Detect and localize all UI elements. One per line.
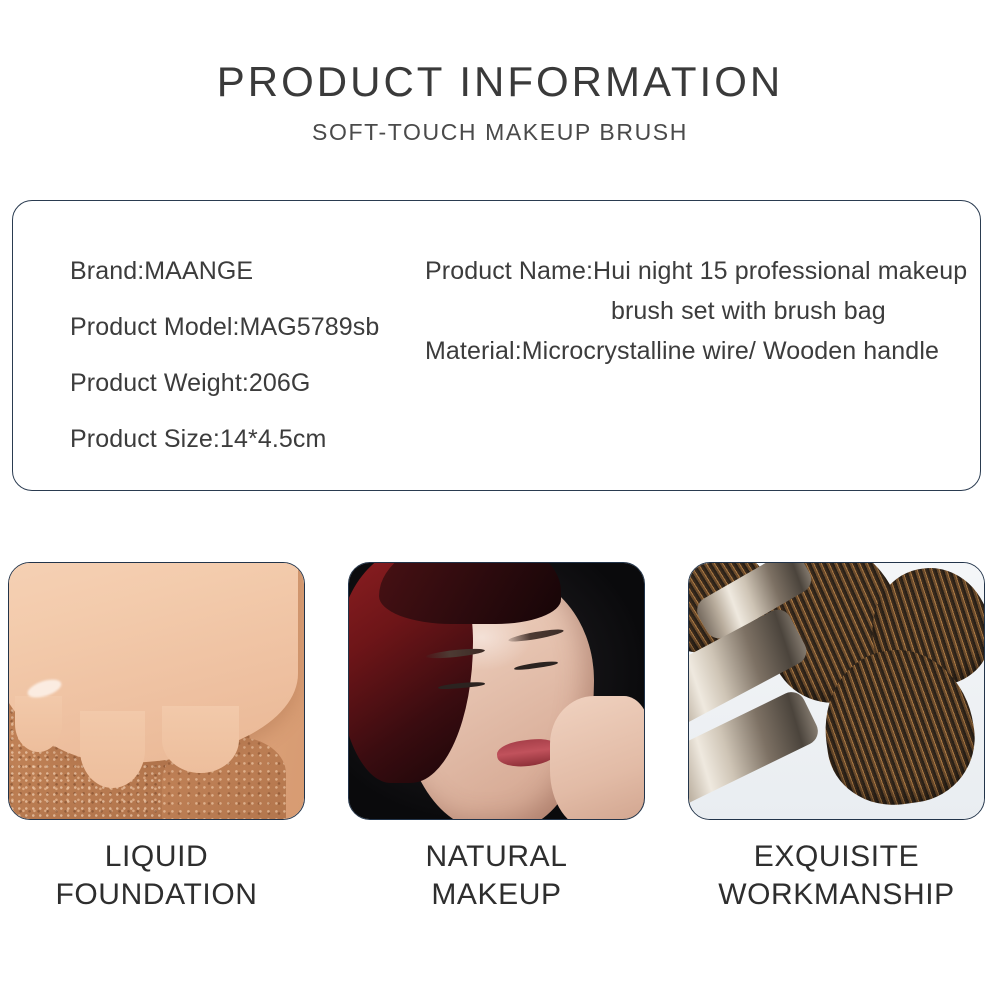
page-header: PRODUCT INFORMATION SOFT-TOUCH MAKEUP BR… bbox=[0, 58, 1000, 145]
model-hand bbox=[550, 696, 645, 820]
spec-brand: Brand:MAANGE bbox=[70, 251, 425, 291]
foundation-drip bbox=[162, 706, 239, 773]
feature-caption-exquisite-workmanship: EXQUISITE WORKMANSHIP bbox=[688, 838, 985, 914]
specification-right-column: Product Name:Hui night 15 professional m… bbox=[425, 251, 970, 371]
page-subtitle: SOFT-TOUCH MAKEUP BRUSH bbox=[0, 119, 1000, 145]
page-title: PRODUCT INFORMATION bbox=[0, 58, 1000, 105]
spec-material: Material:Microcrystalline wire/ Wooden h… bbox=[425, 331, 970, 371]
feature-tile-exquisite-workmanship bbox=[688, 562, 985, 820]
caption-line-1: LIQUID bbox=[8, 838, 305, 876]
feature-tile-liquid-foundation bbox=[8, 562, 305, 820]
specification-box: Brand:MAANGE Product Model:MAG5789sb Pro… bbox=[12, 200, 981, 491]
feature-caption-natural-makeup: NATURAL MAKEUP bbox=[348, 838, 645, 914]
spec-product-model: Product Model:MAG5789sb bbox=[70, 307, 425, 347]
foundation-drip bbox=[80, 711, 145, 788]
caption-line-2: FOUNDATION bbox=[8, 876, 305, 914]
specification-columns: Brand:MAANGE Product Model:MAG5789sb Pro… bbox=[13, 201, 980, 490]
caption-line-2: WORKMANSHIP bbox=[688, 876, 985, 914]
product-information-page: PRODUCT INFORMATION SOFT-TOUCH MAKEUP BR… bbox=[0, 0, 1000, 1000]
spec-product-size: Product Size:14*4.5cm bbox=[70, 419, 425, 459]
model-hair-top bbox=[379, 562, 562, 624]
brush-workmanship-photo bbox=[689, 563, 984, 819]
natural-makeup-model-photo bbox=[349, 563, 644, 819]
caption-line-1: EXQUISITE bbox=[688, 838, 985, 876]
feature-caption-row: LIQUID FOUNDATION NATURAL MAKEUP EXQUISI… bbox=[0, 838, 1000, 948]
feature-caption-liquid-foundation: LIQUID FOUNDATION bbox=[8, 838, 305, 914]
spec-product-name: Product Name:Hui night 15 professional m… bbox=[425, 251, 970, 331]
caption-line-2: MAKEUP bbox=[348, 876, 645, 914]
specification-left-column: Brand:MAANGE Product Model:MAG5789sb Pro… bbox=[70, 251, 425, 459]
feature-image-row bbox=[0, 562, 1000, 822]
caption-line-1: NATURAL bbox=[348, 838, 645, 876]
liquid-foundation-photo bbox=[9, 563, 304, 819]
spec-product-weight: Product Weight:206G bbox=[70, 363, 425, 403]
feature-tile-natural-makeup bbox=[348, 562, 645, 820]
